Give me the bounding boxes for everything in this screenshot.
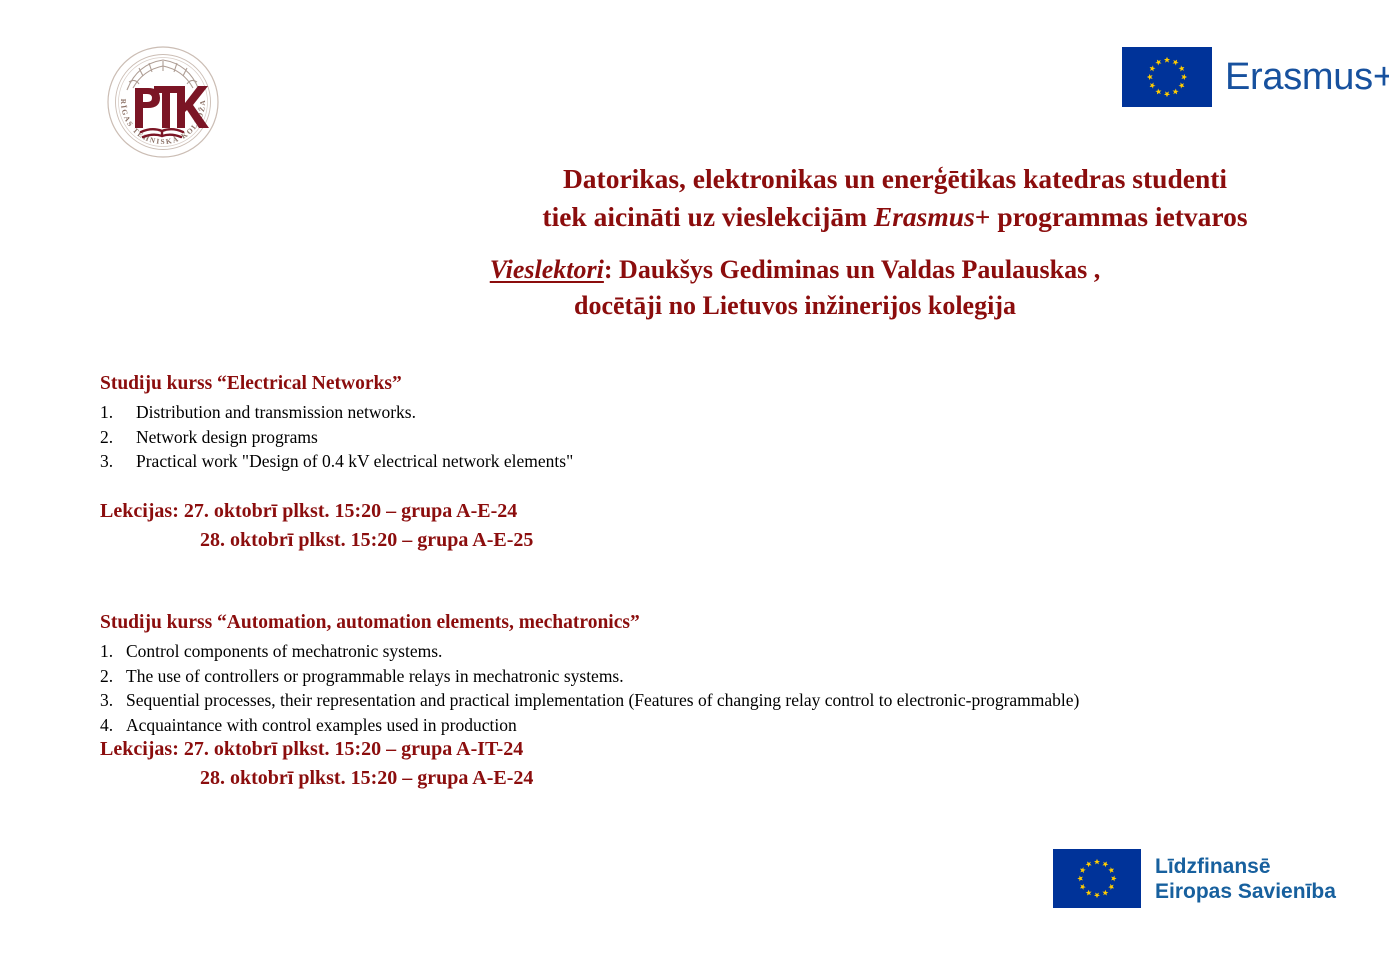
title-line-2-suffix: + programmas ietvaros: [975, 201, 1248, 232]
course-2-schedule: Lekcijas: 27. oktobrī plkst. 15:20 – gru…: [100, 735, 533, 793]
schedule-text: 28. oktobrī plkst. 15:20 – grupa A-E-24: [200, 767, 533, 789]
list-item-number: 2.: [100, 664, 126, 689]
list-item-text: Distribution and transmission networks.: [136, 400, 416, 425]
list-item-text: Practical work "Design of 0.4 kV electri…: [136, 449, 573, 474]
list-item-number: 3.: [100, 688, 126, 713]
course-2-heading: Studiju kurss “Automation, automation el…: [100, 612, 640, 634]
eu-flag-icon: [1053, 849, 1141, 908]
list-item: 2.Network design programs: [100, 425, 573, 450]
erasmus-plus-logo: Erasmus+: [1122, 47, 1389, 107]
title-line-2: tiek aicināti uz vieslekcijām Erasmus+ p…: [430, 198, 1360, 236]
list-item-number: 3.: [100, 449, 136, 474]
erasmus-wordmark: Erasmus+: [1225, 58, 1389, 96]
page-title: Datorikas, elektronikas un enerģētikas k…: [430, 160, 1360, 236]
list-item: 2.The use of controllers or programmable…: [100, 664, 1079, 689]
title-line-2-erasmus: Erasmus: [874, 201, 975, 232]
list-item-text: Network design programs: [136, 425, 318, 450]
schedule-text: 27. oktobrī plkst. 15:20 – grupa A-E-24: [184, 500, 517, 522]
schedule-line: Lekcijas: 27. oktobrī plkst. 15:20 – gru…: [100, 735, 533, 764]
list-item: 3.Practical work "Design of 0.4 kV elect…: [100, 449, 573, 474]
schedule-text: 27. oktobrī plkst. 15:20 – grupa A-IT-24: [184, 738, 523, 760]
schedule-line: 28. oktobrī plkst. 15:20 – grupa A-E-25: [100, 526, 533, 555]
course-1-schedule: Lekcijas: 27. oktobrī plkst. 15:20 – gru…: [100, 497, 533, 555]
schedule-line: 28. oktobrī plkst. 15:20 – grupa A-E-24: [100, 764, 533, 793]
lecturers-line: Vieslektori: Daukšys Gediminas un Valdas…: [400, 252, 1190, 288]
cofunded-line-2: Eiropas Savienība: [1155, 879, 1336, 904]
list-item-text: The use of controllers or programmable r…: [126, 664, 624, 689]
list-item-text: Control components of mechatronic system…: [126, 639, 442, 664]
eu-cofunded-text: Līdzfinansē Eiropas Savienība: [1155, 854, 1336, 904]
title-line-1: Datorikas, elektronikas un enerģētikas k…: [430, 160, 1360, 198]
lecturers-label: Vieslektori: [490, 255, 604, 284]
lecturers-affiliation: docētāji no Lietuvos inžinerijos kolegij…: [400, 288, 1190, 324]
list-item-text: Sequential processes, their representati…: [126, 688, 1079, 713]
lecturers-colon: :: [604, 255, 613, 284]
title-line-2-prefix: tiek aicināti uz vieslekcijām: [542, 201, 873, 232]
lecturers-block: Vieslektori: Daukšys Gediminas un Valdas…: [400, 252, 1190, 324]
list-item-number: 4.: [100, 713, 126, 738]
rtk-college-logo: RĪGAS TEHNISKĀ KOLEDŽA: [105, 44, 221, 160]
cofunded-line-1: Līdzfinansē: [1155, 854, 1336, 879]
lecturers-names: Daukšys Gediminas un Valdas Paulauskas ,: [613, 255, 1101, 284]
list-item-number: 2.: [100, 425, 136, 450]
schedule-line: Lekcijas: 27. oktobrī plkst. 15:20 – gru…: [100, 497, 533, 526]
eu-flag-icon: [1122, 47, 1212, 107]
list-item: 3.Sequential processes, their representa…: [100, 688, 1079, 713]
course-1-heading: Studiju kurss “Electrical Networks”: [100, 373, 402, 395]
list-item-number: 1.: [100, 639, 126, 664]
list-item-number: 1.: [100, 400, 136, 425]
course-2-topic-list: 1.Control components of mechatronic syst…: [100, 639, 1079, 737]
schedule-text: 28. oktobrī plkst. 15:20 – grupa A-E-25: [200, 529, 533, 551]
list-item: 4.Acquaintance with control examples use…: [100, 713, 1079, 738]
list-item-text: Acquaintance with control examples used …: [126, 713, 517, 738]
course-1-topic-list: 1.Distribution and transmission networks…: [100, 400, 573, 474]
list-item: 1.Control components of mechatronic syst…: [100, 639, 1079, 664]
list-item: 1.Distribution and transmission networks…: [100, 400, 573, 425]
eu-cofunded-logo: Līdzfinansē Eiropas Savienība: [1053, 849, 1336, 908]
schedule-label: Lekcijas:: [100, 500, 184, 522]
schedule-label: Lekcijas:: [100, 738, 184, 760]
